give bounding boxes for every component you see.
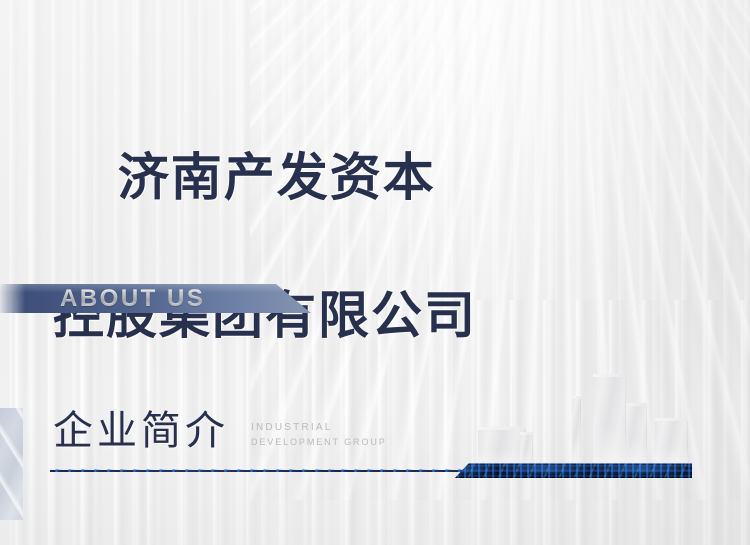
digital-bar-top-edge — [455, 463, 692, 464]
about-us-label: ABOUT US — [60, 285, 205, 313]
left-decorative-panel — [0, 408, 23, 520]
building-mid-right — [620, 403, 647, 468]
building-wide-left-cap — [520, 432, 533, 468]
digital-skyline-base — [455, 463, 692, 478]
building-thin-tower — [572, 396, 581, 468]
section-title-cn: 企业简介 — [53, 408, 229, 454]
section-subtitle-en: INDUSTRIAL DEVELOPMENT GROUP — [251, 421, 387, 449]
section-heading: 企业简介 INDUSTRIAL DEVELOPMENT GROUP — [53, 408, 387, 454]
building-wide-left — [478, 427, 526, 468]
digital-pixel-glow — [455, 465, 692, 473]
slide-canvas: 济南产发资本 控股集团有限公司 ABOUT US 企业简介 INDUSTRIAL… — [0, 0, 750, 545]
section-subtitle-en-line-2: DEVELOPMENT GROUP — [251, 435, 387, 449]
building-tallest — [593, 374, 626, 468]
about-us-ribbon: ABOUT US — [0, 284, 312, 313]
page-title-line-1: 济南产发资本 — [118, 149, 436, 206]
section-subtitle-en-line-1: INDUSTRIAL — [251, 422, 332, 433]
building-right — [655, 418, 688, 468]
